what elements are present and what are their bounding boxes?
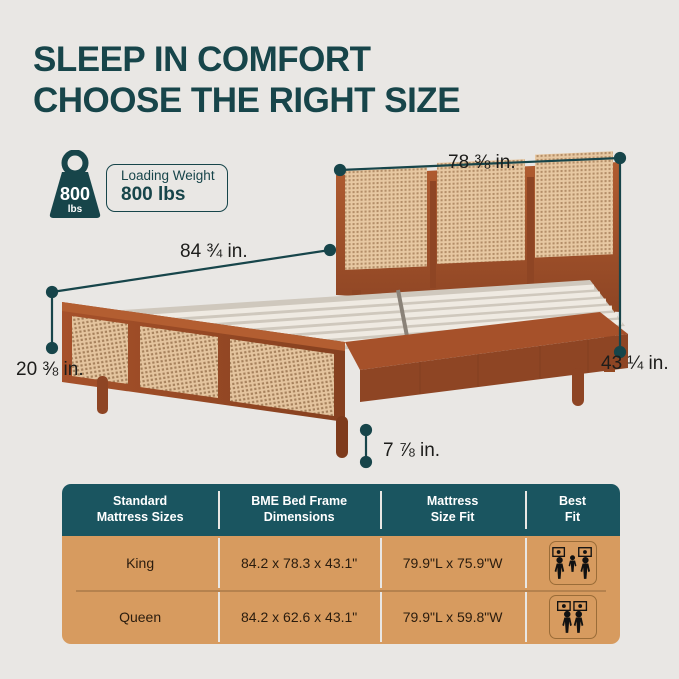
column-header-mattress-size-fit: Mattress Size Fit [380,484,525,536]
col2-line2: Size Fit [431,510,475,524]
two-adults-icon [549,595,597,639]
column-header-bme-bed-frame-dimensions: BME Bed Frame Dimensions [218,484,380,536]
dimension-label-headboard-height: 43 ¼ in. [601,353,669,375]
col0-line2: Mattress Sizes [97,510,184,524]
table-body: King 84.2 x 78.3 x 43.1" 79.9"L x 75.9"W [62,536,620,644]
col2-line1: Mattress [427,494,478,508]
dimension-label-clearance: 7 ⅞ in. [383,440,440,462]
table-row: King 84.2 x 78.3 x 43.1" 79.9"L x 75.9"W [62,536,620,590]
column-header-standard-mattress-sizes: Standard Mattress Sizes [62,484,218,536]
cell-frame-dimensions-king: 84.2 x 78.3 x 43.1" [218,536,380,590]
col3-line2: Fit [565,510,580,524]
cell-mattress-fit-king: 79.9"L x 75.9"W [380,536,525,590]
cell-frame-dimensions-queen: 84.2 x 62.6 x 43.1" [218,590,380,644]
infographic-page: { "headline": { "line1": "SLEEP IN COMFO… [0,0,679,679]
col1-line1: BME Bed Frame [251,494,347,508]
col0-line1: Standard [113,494,167,508]
table-header-row: Standard Mattress Sizes BME Bed Frame Di… [62,484,620,536]
headline-line-1: SLEEP IN COMFORT [33,40,371,79]
cell-best-fit-queen [525,590,620,644]
cell-best-fit-king [525,536,620,590]
dimension-label-side-rail-height: 20 ⅜ in. [16,359,84,381]
col3-line1: Best [559,494,586,508]
table-row: Queen 84.2 x 62.6 x 43.1" 79.9"L x 59.8"… [62,590,620,644]
column-header-best-fit: Best Fit [525,484,620,536]
dimension-label-length-frame: 84 ¾ in. [180,241,248,263]
dimension-label-width-headboard: 78 ⅜ in. [448,152,516,174]
page-title: SLEEP IN COMFORT CHOOSE THE RIGHT SIZE [33,40,633,122]
cell-mattress-fit-queen: 79.9"L x 59.8"W [380,590,525,644]
cell-size-queen: Queen [62,590,218,644]
cell-size-king: King [62,536,218,590]
two-adults-one-child-icon [549,541,597,585]
mattress-size-table: Standard Mattress Sizes BME Bed Frame Di… [62,484,620,644]
bed-illustration [0,130,679,480]
col1-line2: Dimensions [264,510,335,524]
headline-line-2: CHOOSE THE RIGHT SIZE [33,81,633,122]
